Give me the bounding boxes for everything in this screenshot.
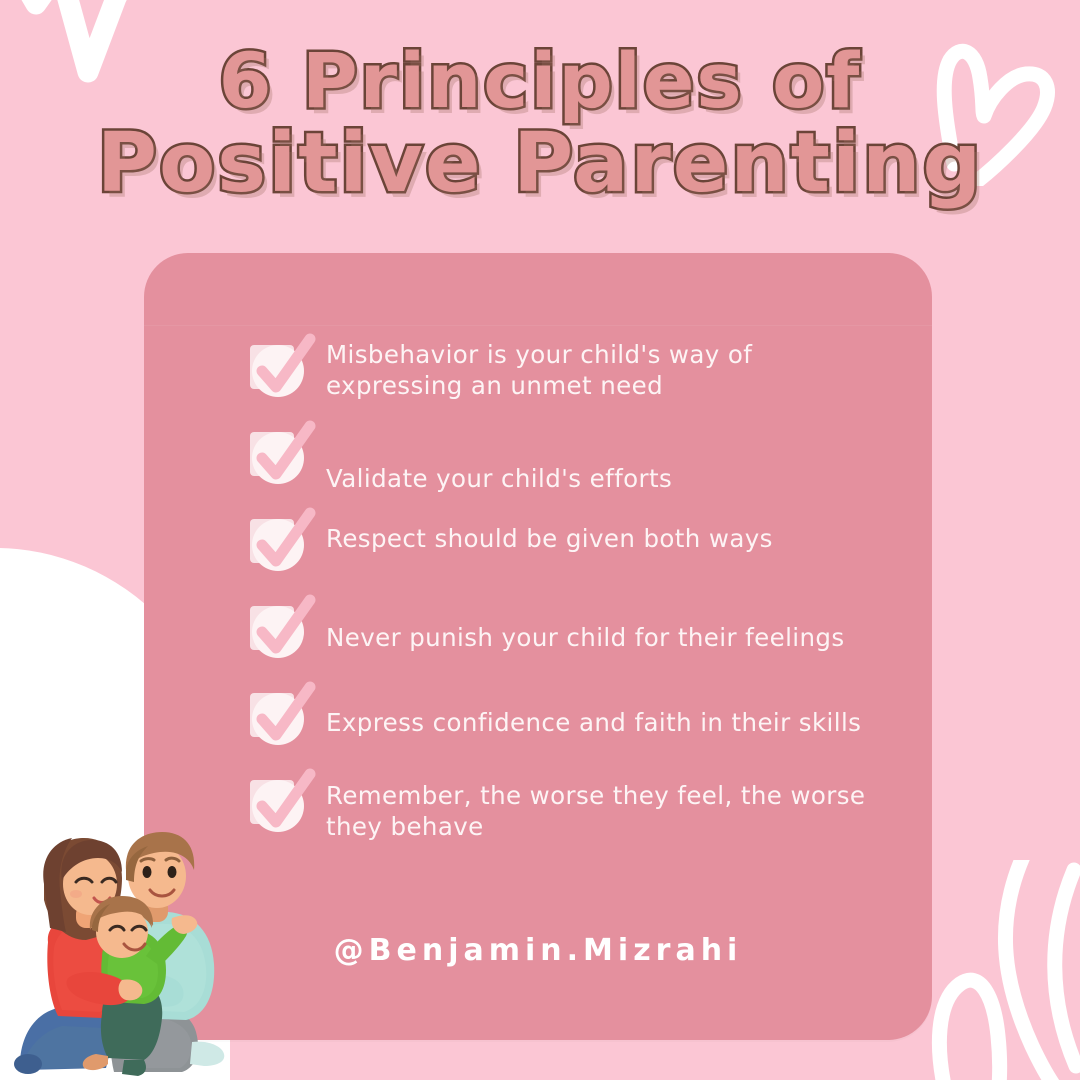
principles-list: Misbehavior is your child's way of expre… <box>248 335 888 857</box>
list-item[interactable]: Never punish your child for their feelin… <box>248 596 888 683</box>
list-item-label: Validate your child's efforts <box>326 463 672 494</box>
list-item[interactable]: Respect should be given both ways <box>248 509 888 596</box>
list-item-label: Remember, the worse they feel, the worse… <box>326 780 886 842</box>
social-handle[interactable]: @Benjamin.Mizrahi <box>144 933 932 968</box>
poster-title: 6 Principles of Positive Parenting <box>0 44 1080 205</box>
title-line-2: Positive Parenting <box>0 124 1080 204</box>
list-item-label: Never punish your child for their feelin… <box>326 622 845 653</box>
list-item[interactable]: Express confidence and faith in their sk… <box>248 683 888 770</box>
checkmark-icon <box>248 341 310 399</box>
family-illustration <box>14 828 232 1080</box>
list-item-label: Misbehavior is your child's way of expre… <box>326 339 886 401</box>
title-line-1: 6 Principles of <box>0 44 1080 118</box>
checkmark-icon <box>248 515 310 573</box>
principles-card: Misbehavior is your child's way of expre… <box>144 253 932 1040</box>
checkmark-icon <box>248 689 310 747</box>
checkmark-icon <box>248 602 310 660</box>
list-item[interactable]: Misbehavior is your child's way of expre… <box>248 335 888 422</box>
checkmark-icon <box>248 428 310 486</box>
poster-canvas: 6 Principles of Positive Parenting Misbe… <box>0 0 1080 1080</box>
card-divider <box>144 325 932 326</box>
list-item[interactable]: Remember, the worse they feel, the worse… <box>248 770 888 857</box>
list-item-label: Respect should be given both ways <box>326 523 773 554</box>
list-item-label: Express confidence and faith in their sk… <box>326 707 861 738</box>
checkmark-icon <box>248 776 310 834</box>
list-item[interactable]: Validate your child's efforts <box>248 422 888 509</box>
